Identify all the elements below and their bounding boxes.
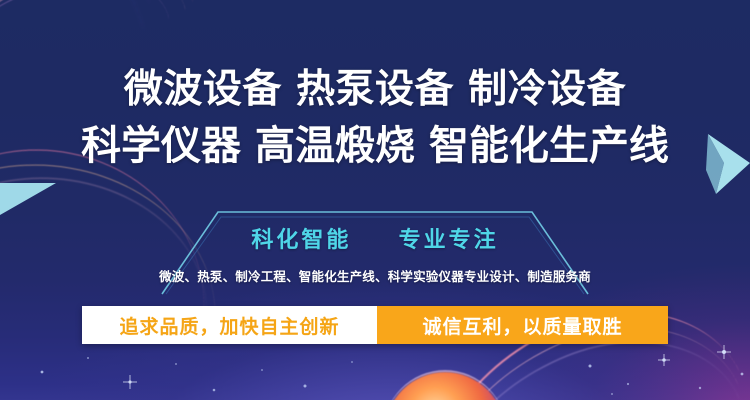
subtitle-cyan: 科化智能 专业专注 <box>0 222 750 254</box>
glowing-sphere-icon <box>385 372 505 400</box>
glowing-sphere-rim-icon <box>383 370 507 400</box>
slogan-bar-secondary: 诚信互利，以质量取胜 <box>377 306 668 344</box>
subtitle-cyan-right: 专业专注 <box>399 228 499 253</box>
slogan-bar-group: 追求品质，加快自主创新 诚信互利，以质量取胜 <box>82 306 668 344</box>
subtitle-description: 微波、热泵、制冷工程、智能化生产线、科学实验仪器专业设计、制造服务商 <box>0 266 750 285</box>
promo-banner: 微波设备 热泵设备 制冷设备 科学仪器 高温煅烧 智能化生产线 科化智能 专业专… <box>0 0 750 400</box>
triangle-right-icon <box>0 183 56 215</box>
headline-line-1: 微波设备 热泵设备 制冷设备 <box>0 62 750 118</box>
subtitle-cyan-left: 科化智能 <box>251 228 351 253</box>
headline: 微波设备 热泵设备 制冷设备 科学仪器 高温煅烧 智能化生产线 <box>0 62 750 174</box>
headline-line-2: 科学仪器 高温煅烧 智能化生产线 <box>0 118 750 174</box>
slogan-bar-primary: 追求品质，加快自主创新 <box>82 306 377 344</box>
